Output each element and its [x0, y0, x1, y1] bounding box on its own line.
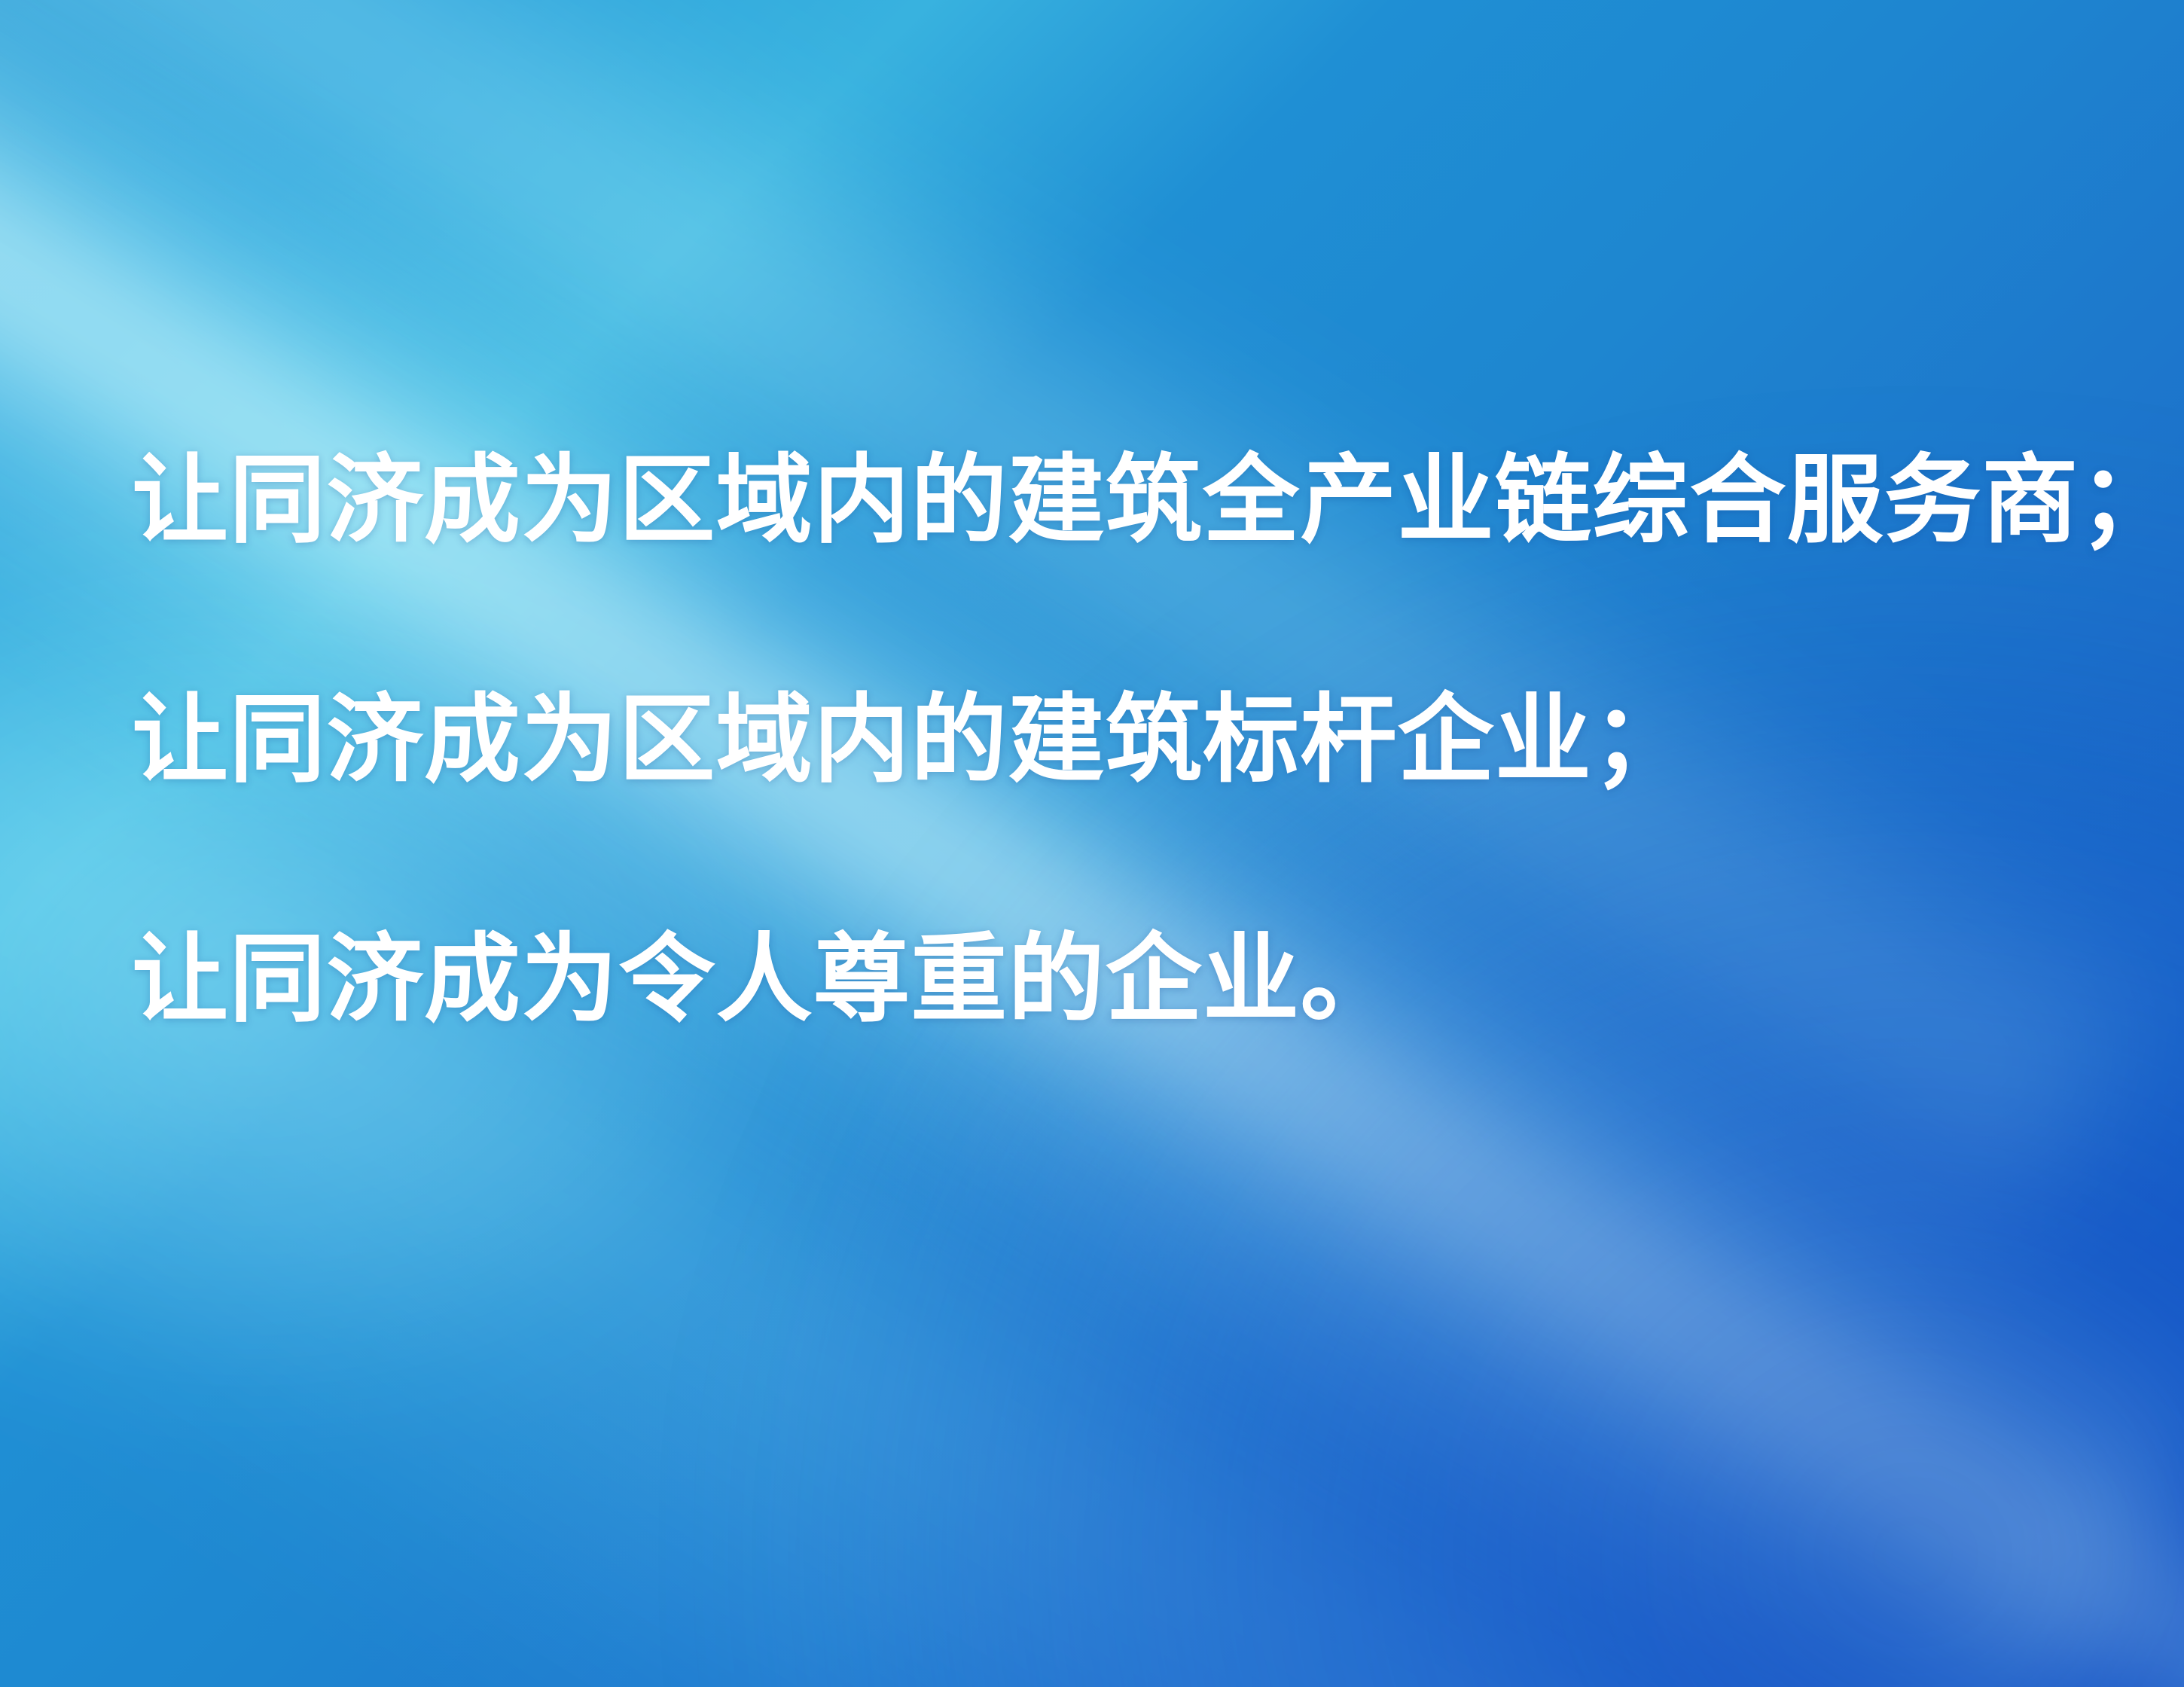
slide-line-2: 让同济成为区域内的建筑标杆企业；: [132, 691, 2090, 788]
presentation-slide: 让同济成为区域内的建筑全产业链综合服务商； 让同济成为区域内的建筑标杆企业； 让…: [0, 0, 2184, 1687]
slide-line-3: 让同济成为令人尊重的企业。: [132, 931, 2090, 1027]
slide-line-1: 让同济成为区域内的建筑全产业链综合服务商；: [132, 452, 2090, 548]
slide-text-block: 让同济成为区域内的建筑全产业链综合服务商； 让同济成为区域内的建筑标杆企业； 让…: [132, 452, 2090, 1027]
